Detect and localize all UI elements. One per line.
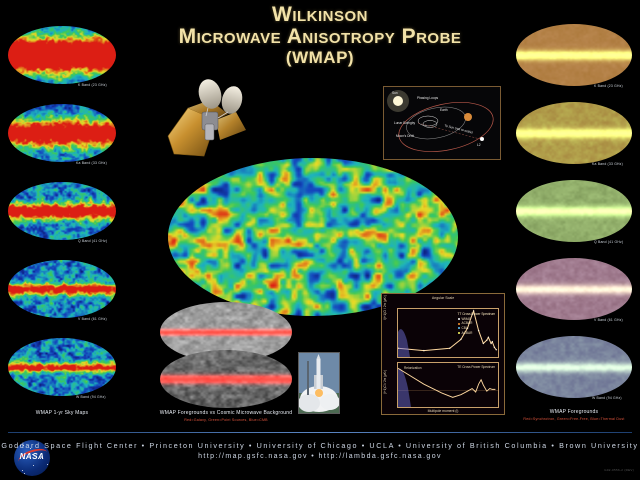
sky-map-v-band: [8, 260, 116, 318]
chart-ylabel-tt: l(l+1)Cl / 2π (μK²): [383, 295, 387, 320]
sky-map-k-band-label: K Band (23 GHz): [78, 83, 107, 87]
right-column-caption-sub: Red=Synchrotron, Green=Free-Free, Blue=T…: [508, 417, 640, 421]
footer-id-code: G02-0556-2 (REV): [604, 468, 634, 472]
footer-divider: [8, 432, 632, 433]
orbit-label-l2: L2: [477, 143, 481, 147]
chart-panel-tt: TT Cross Power Spectrum WMAPACBARCBIACBA…: [397, 308, 499, 358]
chart-legend-item: ACBAR: [458, 331, 496, 336]
wmap-poster: WILKINSON MICROWAVE ANISOTROPY PROBE (WM…: [0, 0, 640, 480]
sky-map-w-band-label: W Band (94 GHz): [76, 395, 106, 399]
foreground-map-q-band: [516, 180, 632, 242]
footer: NASA Goddard Space Flight Center • Princ…: [0, 432, 640, 480]
foreground-map-v-band: [516, 258, 632, 320]
sky-map-ka-band: [8, 104, 116, 162]
foreground-map-ka-band: [516, 102, 632, 164]
chart-legend-title-te: TE Cross Power Spectrum: [457, 365, 495, 369]
logo-star: [33, 465, 34, 466]
legend-label: ACBAR: [462, 331, 473, 336]
logo-star: [47, 464, 48, 465]
foreground-map-ka-band-label: Ka Band (33 GHz): [592, 162, 623, 166]
right-column-caption: WMAP Foregrounds: [516, 409, 632, 415]
sky-map-q-band-label: Q Band (41 GHz): [78, 239, 107, 243]
power-spectrum-chart: Angular Scale l(l+1)Cl / 2π (μK²) (l+1)C…: [381, 293, 505, 415]
chart-ylabel-te: (l+1)Cl / 2π (μK²): [383, 370, 387, 394]
orbit-label-sun: Sun: [392, 91, 398, 95]
title-line-2: MICROWAVE ANISOTROPY PROBE: [150, 26, 490, 47]
foreground-map-k-band: [516, 24, 632, 86]
chart-xlabel: Multipole moment (l): [382, 409, 504, 413]
center-gray-caption: WMAP Foregrounds vs Cosmic Microwave Bac…: [150, 410, 302, 416]
sky-map-k-band: [8, 26, 116, 84]
logo-star: [22, 470, 23, 471]
foreground-map-v-band-label: V Band (61 GHz): [594, 318, 623, 322]
footer-urls[interactable]: http://map.gsfc.nasa.gov • http://lambda…: [0, 453, 640, 460]
title-line-3: (WMAP): [150, 49, 490, 66]
chart-legend-tt: TT Cross Power Spectrum WMAPACBARCBIACBA…: [458, 312, 496, 335]
legend-swatch-icon: [458, 332, 460, 334]
sky-map-ka-band-label: Ka Band (33 GHz): [76, 161, 107, 165]
sky-map-w-band: [8, 338, 116, 396]
wmap-spacecraft-image: [158, 78, 268, 173]
title-line-1: WILKINSON: [150, 4, 490, 25]
legend-swatch-icon: [458, 327, 460, 329]
foreground-map-q-band-label: Q Band (41 GHz): [594, 240, 623, 244]
center-gray-caption-sub: Red=Galaxy, Green=Point Sources, Blue=CM…: [150, 418, 302, 422]
logo-star: [24, 473, 25, 474]
orbit-diagram-inset: Sun Phasing Loops Earth Lunar Swingby Mo…: [383, 86, 501, 160]
page-title: WILKINSON MICROWAVE ANISOTROPY PROBE (WM…: [150, 4, 490, 66]
orbit-label-lunar-swingby: Lunar Swingby: [394, 121, 415, 125]
foreground-map-w-band-label: W Band (94 GHz): [592, 396, 622, 400]
launch-photo-inset: [298, 352, 340, 414]
chart-top-axis-label: Angular Scale: [382, 296, 504, 300]
foreground-map-k-band-label: K Band (23 GHz): [594, 84, 623, 88]
orbit-label-moons-orbit: Moon's Orbit: [396, 134, 414, 138]
sky-map-q-band: [8, 182, 116, 240]
orbit-label-phasing-loops: Phasing Loops: [417, 96, 438, 100]
foreground-gray-map-lower: [160, 350, 292, 408]
orbit-label-earth: Earth: [440, 108, 448, 112]
sky-map-v-band-label: V Band (61 GHz): [78, 317, 107, 321]
left-column-caption: WMAP 1-yr Sky Maps: [8, 410, 116, 416]
footer-text: Goddard Space Flight Center • Princeton …: [0, 441, 640, 460]
footer-institutions: Goddard Space Flight Center • Princeton …: [0, 441, 640, 450]
foreground-map-w-band: [516, 336, 632, 398]
legend-swatch-icon: [458, 323, 460, 325]
legend-swatch-icon: [458, 318, 460, 320]
chart-annotation-reionization: Reionization: [404, 366, 422, 370]
